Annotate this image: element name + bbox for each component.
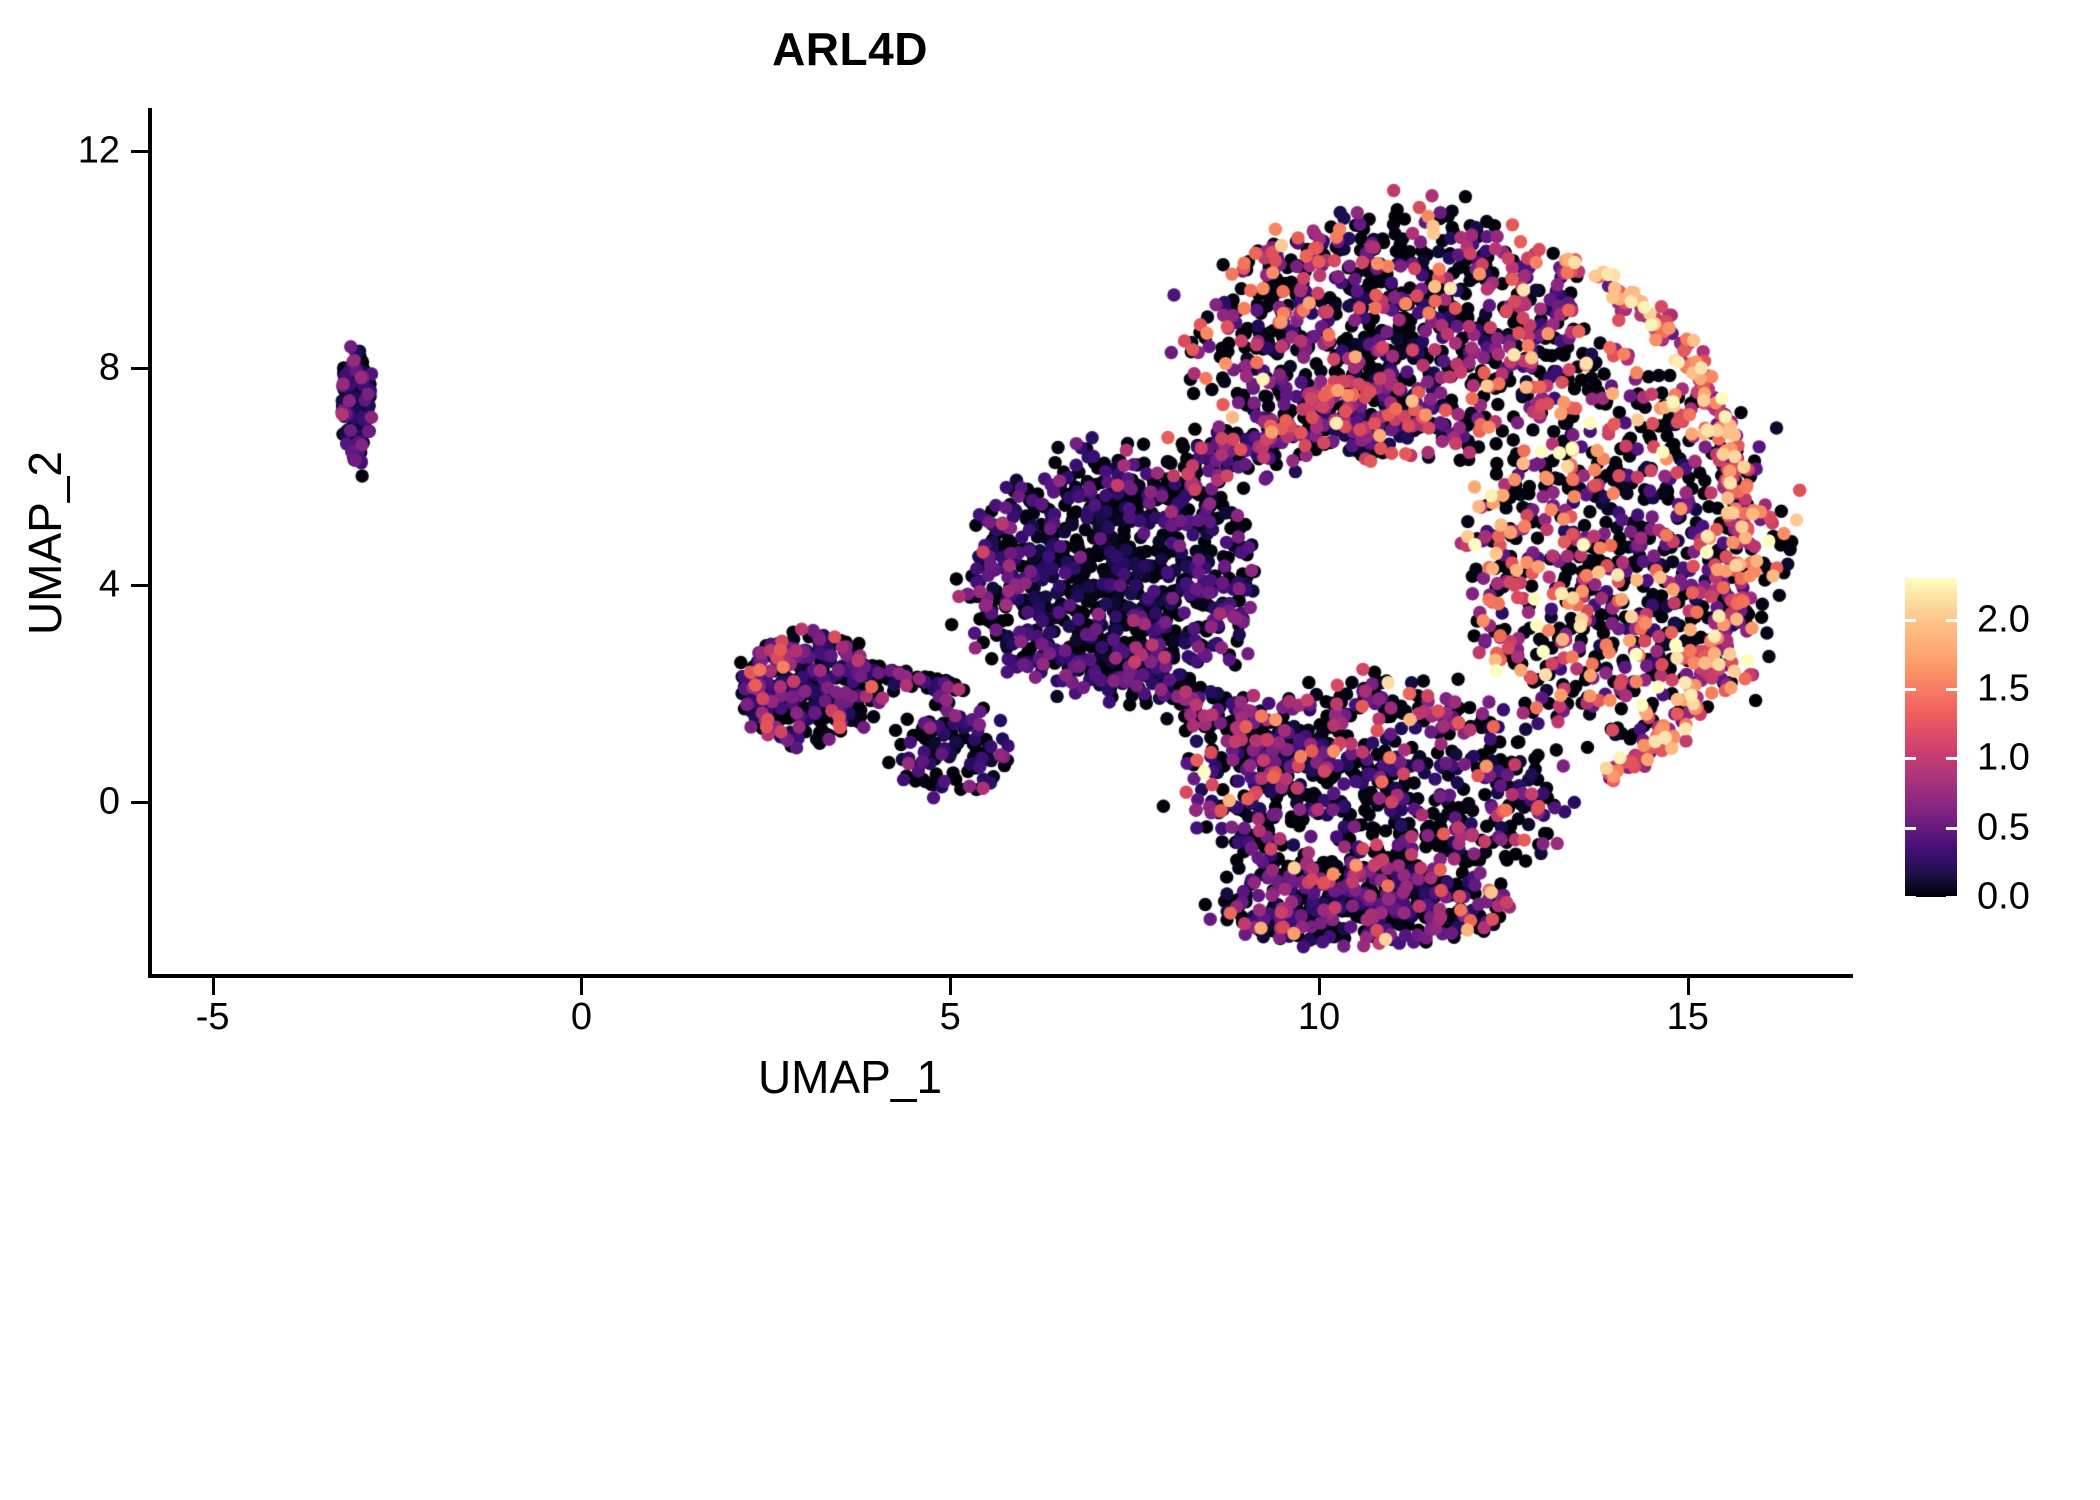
page-title: ARL4D bbox=[0, 22, 1700, 76]
x-tick-mark bbox=[1318, 978, 1321, 995]
colorbar-tick-mark bbox=[1905, 757, 1916, 760]
y-tick-mark bbox=[131, 150, 148, 153]
x-tick-label: 10 bbox=[1259, 996, 1379, 1039]
y-tick-mark bbox=[131, 584, 148, 587]
colorbar-legend: 2.01.51.00.50.0 bbox=[1905, 578, 2085, 908]
plot-panel bbox=[150, 108, 1850, 976]
colorbar-tick-mark bbox=[1946, 619, 1957, 622]
x-tick-label: 15 bbox=[1628, 996, 1748, 1039]
colorbar-tick-label: 0.5 bbox=[1977, 806, 2030, 849]
colorbar-gradient bbox=[1905, 578, 1957, 897]
colorbar-tick-label: 1.0 bbox=[1977, 737, 2030, 780]
x-tick-mark bbox=[1687, 978, 1690, 995]
colorbar-tick-mark bbox=[1905, 619, 1916, 622]
y-tick-mark bbox=[131, 801, 148, 804]
colorbar-tick-mark bbox=[1946, 688, 1957, 691]
y-axis-title: UMAP_2 bbox=[18, 193, 72, 893]
colorbar-tick-mark bbox=[1946, 896, 1957, 899]
colorbar-tick-mark bbox=[1946, 827, 1957, 830]
x-tick-mark bbox=[212, 978, 215, 995]
y-tick-mark bbox=[131, 367, 148, 370]
x-tick-label: 5 bbox=[890, 996, 1010, 1039]
x-tick-mark bbox=[580, 978, 583, 995]
colorbar-tick-label: 1.5 bbox=[1977, 667, 2030, 710]
y-axis-line bbox=[148, 108, 152, 976]
x-axis-line bbox=[148, 974, 1853, 978]
chart-root: ARL4D 12840 -5051015 UMAP_1 UMAP_2 2.01.… bbox=[0, 0, 2100, 1500]
colorbar-tick-mark bbox=[1905, 827, 1916, 830]
colorbar-tick-label: 0.0 bbox=[1977, 876, 2030, 919]
x-axis-title: UMAP_1 bbox=[0, 1050, 1700, 1104]
x-tick-label: 0 bbox=[521, 996, 641, 1039]
colorbar-tick-mark bbox=[1905, 896, 1916, 899]
colorbar-tick-label: 2.0 bbox=[1977, 598, 2030, 641]
x-tick-label: -5 bbox=[153, 996, 273, 1039]
y-tick-label: 12 bbox=[30, 130, 120, 173]
x-tick-mark bbox=[949, 978, 952, 995]
scatter-plot-canvas bbox=[150, 108, 1850, 976]
colorbar-tick-mark bbox=[1946, 757, 1957, 760]
colorbar-tick-mark bbox=[1905, 688, 1916, 691]
